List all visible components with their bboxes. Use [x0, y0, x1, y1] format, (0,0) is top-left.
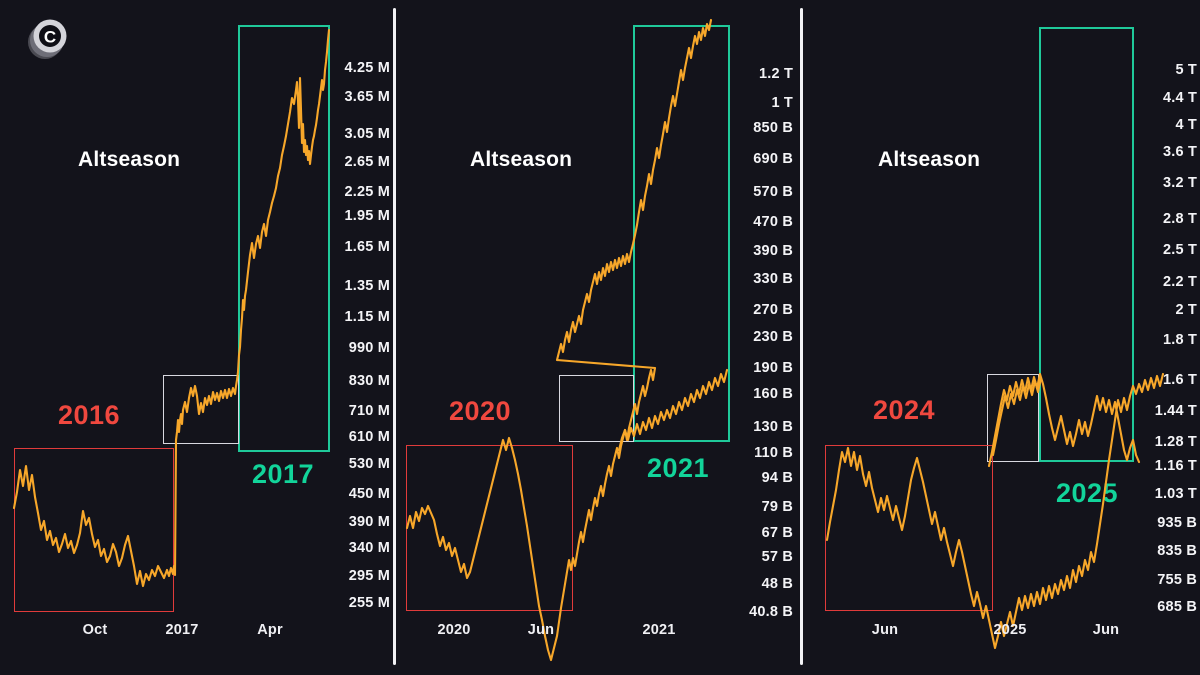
y-tick: 40.8 B — [749, 604, 793, 620]
bear-accumulation-box — [406, 445, 573, 611]
y-tick: 3.2 T — [1163, 175, 1197, 191]
y-tick: 1.03 T — [1155, 486, 1197, 502]
y-tick: 390 B — [753, 243, 793, 259]
y-tick: 270 B — [753, 302, 793, 318]
y-tick: 160 B — [753, 386, 793, 402]
y-tick: 2.5 T — [1163, 242, 1197, 258]
y-tick: 2.8 T — [1163, 211, 1197, 227]
bull-year-label: 2025 — [1056, 478, 1118, 509]
y-tick: 1 T — [771, 95, 793, 111]
y-tick: 1.15 M — [344, 309, 390, 325]
y-tick: 530 M — [349, 456, 390, 472]
y-axis: 4.25 M 3.65 M 3.05 M 2.65 M 2.25 M 1.95 … — [334, 0, 390, 675]
x-tick: 2017 — [165, 622, 198, 638]
y-tick: 130 B — [753, 419, 793, 435]
transition-box — [559, 375, 634, 442]
x-tick: Apr — [257, 622, 283, 638]
y-tick: 2.2 T — [1163, 274, 1197, 290]
y-tick: 1.2 T — [759, 66, 793, 82]
bull-year-label: 2021 — [647, 453, 709, 484]
y-tick: 450 M — [349, 486, 390, 502]
y-tick: 48 B — [762, 576, 793, 592]
x-tick: Jun — [872, 622, 898, 638]
bear-accumulation-box — [14, 448, 174, 612]
y-tick: 4 T — [1175, 117, 1197, 133]
x-axis: 2020 Jun 2021 — [396, 622, 800, 646]
y-tick: 67 B — [762, 525, 793, 541]
y-tick: 2 T — [1175, 302, 1197, 318]
y-tick: 4.4 T — [1163, 90, 1197, 106]
y-tick: 990 M — [349, 340, 390, 356]
panel-cycle-2016-2017: Altseason 2016 2017 4.25 M 3.65 M 3.05 M… — [0, 0, 393, 675]
y-tick: 340 M — [349, 540, 390, 556]
x-tick: 2025 — [993, 622, 1026, 638]
bear-accumulation-box — [825, 445, 993, 611]
y-tick: 1.35 M — [344, 278, 390, 294]
y-tick: 1.65 M — [344, 239, 390, 255]
y-tick: 390 M — [349, 514, 390, 530]
x-axis: Jun 2025 Jun — [803, 622, 1200, 646]
x-tick: 2020 — [437, 622, 470, 638]
bear-year-label: 2020 — [449, 396, 511, 427]
bear-year-label: 2024 — [873, 395, 935, 426]
y-axis: 1.2 T 1 T 850 B 690 B 570 B 470 B 390 B … — [733, 0, 793, 675]
bear-year-label: 2016 — [58, 400, 120, 431]
y-tick: 230 B — [753, 329, 793, 345]
y-axis: 5 T 4.4 T 4 T 3.6 T 3.2 T 2.8 T 2.5 T 2.… — [1137, 0, 1197, 675]
y-tick: 3.65 M — [344, 89, 390, 105]
y-tick: 835 B — [1157, 543, 1197, 559]
y-tick: 610 M — [349, 429, 390, 445]
chart-canvas: C Altseason 2016 2017 4.25 M 3.65 M 3.05… — [0, 0, 1200, 675]
y-tick: 1.28 T — [1155, 434, 1197, 450]
y-tick: 1.8 T — [1163, 332, 1197, 348]
y-tick: 2.25 M — [344, 184, 390, 200]
altseason-title: Altseason — [78, 148, 180, 172]
x-tick: Jun — [528, 622, 554, 638]
y-tick: 685 B — [1157, 599, 1197, 615]
y-tick: 1.16 T — [1155, 458, 1197, 474]
transition-box — [163, 375, 239, 444]
y-tick: 330 B — [753, 271, 793, 287]
y-tick: 690 B — [753, 151, 793, 167]
y-tick: 850 B — [753, 120, 793, 136]
y-tick: 110 B — [754, 445, 793, 461]
x-tick: 2021 — [642, 622, 675, 638]
y-tick: 710 M — [349, 403, 390, 419]
panel-cycle-2024-2025: Altseason 2024 2025 5 T 4.4 T 4 T 3.6 T … — [803, 0, 1200, 675]
y-tick: 79 B — [762, 499, 793, 515]
y-tick: 3.6 T — [1163, 144, 1197, 160]
altseason-box — [633, 25, 730, 442]
y-tick: 935 B — [1157, 515, 1197, 531]
y-tick: 57 B — [762, 549, 793, 565]
panel-cycle-2020-2021: Altseason 2020 2021 1.2 T 1 T 850 B 690 … — [396, 0, 800, 675]
y-tick: 3.05 M — [344, 126, 390, 142]
y-tick: 470 B — [753, 214, 793, 230]
y-tick: 295 M — [349, 568, 390, 584]
y-tick: 190 B — [753, 360, 793, 376]
y-tick: 755 B — [1157, 572, 1197, 588]
bull-year-label: 2017 — [252, 459, 314, 490]
altseason-box-projected — [1039, 27, 1134, 462]
x-axis: Oct 2017 Apr — [0, 622, 393, 646]
y-tick: 1.6 T — [1163, 372, 1197, 388]
y-tick: 5 T — [1175, 62, 1197, 78]
y-tick: 4.25 M — [344, 60, 390, 76]
y-tick: 255 M — [349, 595, 390, 611]
x-tick: Oct — [83, 622, 108, 638]
altseason-title: Altseason — [470, 148, 572, 172]
transition-box — [987, 374, 1039, 462]
altseason-title: Altseason — [878, 148, 980, 172]
y-tick: 94 B — [762, 470, 793, 486]
y-tick: 830 M — [349, 373, 390, 389]
altseason-box — [238, 25, 330, 452]
y-tick: 570 B — [753, 184, 793, 200]
x-tick: Jun — [1093, 622, 1119, 638]
y-tick: 2.65 M — [344, 154, 390, 170]
y-tick: 1.44 T — [1155, 403, 1197, 419]
y-tick: 1.95 M — [344, 208, 390, 224]
